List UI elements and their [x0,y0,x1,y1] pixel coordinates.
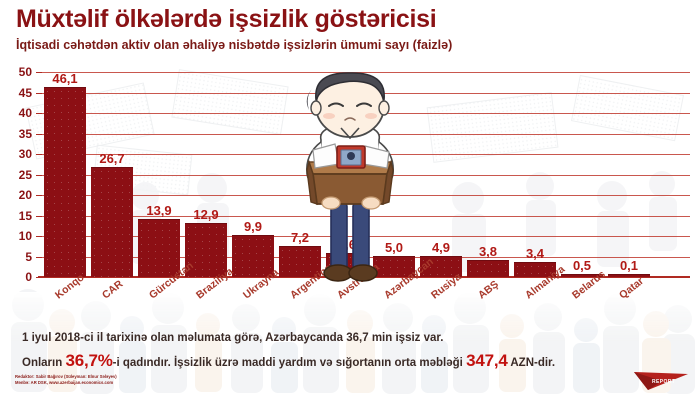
credits-line-2: Mənbə: AR DSK, www.azerbaijan.economics.… [15,380,117,386]
bar[interactable] [44,87,86,277]
bar-column[interactable]: 13,9 [138,194,180,277]
footer-line2-part3: AZN-dir. [508,357,556,369]
bar-value-label: 0,1 [608,259,650,272]
unemployment-infographic: Müxtəlif ölkələrdə işsizlik göstəricisi … [0,0,698,400]
bar-value-label: 3,8 [467,245,509,258]
bar-value-label: 9,9 [232,220,274,233]
bar-column[interactable]: 0,1 [608,249,650,277]
svg-text:REPORT: REPORT [652,379,675,385]
bar-value-label: 13,9 [138,204,180,217]
bar-column[interactable]: 46,1 [44,62,86,277]
bar[interactable] [608,274,650,277]
bar-value-label: 26,7 [91,152,133,165]
footer-note: 1 iyul 2018-ci il tarixinə olan məlumata… [22,330,682,374]
female-share-stat: 36,7% [65,351,112,370]
bar-column[interactable]: 9,9 [232,210,274,277]
bar-value-label: 46,1 [44,72,86,85]
footer-line-1: 1 iyul 2018-ci il tarixinə olan məlumata… [22,330,682,348]
x-axis-labels: KonqoCARGürcüstanBraziliyaUkraynaArgenti… [0,292,698,334]
bar-column[interactable]: 26,7 [91,142,133,277]
bar[interactable] [91,167,133,277]
bar-value-label: 3,4 [514,247,556,260]
average-benefit-stat: 347,4 [466,351,508,370]
page-title: Müxtəlif ölkələrdə işsizlik göstəricisi [16,6,676,34]
bar-value-label: 12,9 [185,208,227,221]
footer-line-2: Onların 36,7%-i qadındır. İşsizlik üzrə … [22,348,682,374]
laid-off-worker-illustration [283,70,417,292]
bar-value-label: 4,9 [420,241,462,254]
header: Müxtəlif ölkələrdə işsizlik göstəricisi … [16,6,676,52]
bar[interactable] [467,260,509,277]
bar[interactable] [138,219,180,277]
paper-plane-logo[interactable]: REPORT [632,366,690,392]
page-subtitle: İqtisadi cəhətdən aktiv olan əhaliyə nis… [16,38,676,52]
footer-line2-part2: -i qadındır. İşsizlik üzrə maddi yardım … [113,357,466,369]
bar-column[interactable]: 3,8 [467,235,509,277]
footer-line2-part1: Onların [22,357,65,369]
credits: Redaktor: Sabir Bağırov (Süleyman: Elnur… [15,374,117,387]
